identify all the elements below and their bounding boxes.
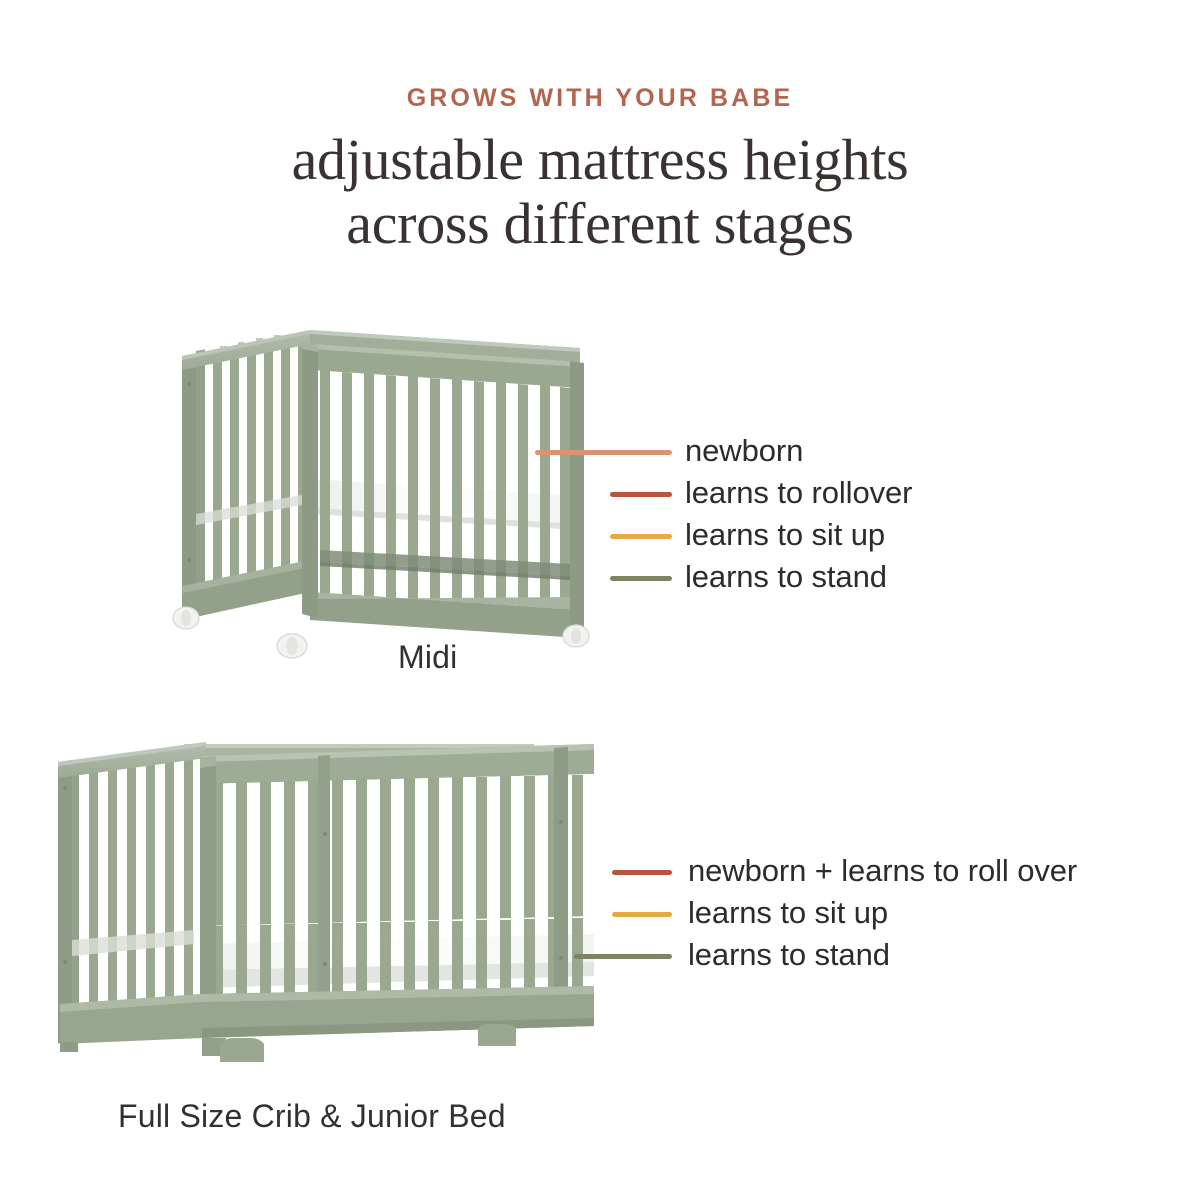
legend-label: newborn — [685, 430, 803, 472]
legend-label: learns to stand — [688, 934, 890, 976]
connector-line-rollover — [610, 492, 672, 497]
midi-caption: Midi — [398, 639, 457, 676]
legend-row: learns to sit up — [530, 514, 1190, 556]
full-size-legend: newborn + learns to roll over learns to … — [560, 850, 1200, 976]
legend-row: learns to stand — [530, 556, 1190, 598]
legend-label: newborn + learns to roll over — [688, 850, 1077, 892]
legend-label: learns to stand — [685, 556, 887, 598]
connector-line-sit-up — [610, 534, 672, 539]
caster-wheel — [563, 625, 589, 647]
legend-row: learns to sit up — [560, 892, 1200, 934]
connector-line-newborn-rollover — [612, 870, 672, 875]
legend-label: learns to sit up — [685, 514, 885, 556]
legend-row: newborn — [530, 430, 1190, 472]
headline-line-1: adjustable mattress heights — [292, 127, 909, 192]
connector-line-stand — [574, 954, 672, 959]
connector-line-newborn — [535, 450, 672, 455]
legend-label: learns to sit up — [688, 892, 888, 934]
promo-graphic: GROWS WITH YOUR BABE adjustable mattress… — [0, 0, 1200, 1200]
legend-row: newborn + learns to roll over — [560, 850, 1200, 892]
legend-row: learns to stand — [560, 934, 1200, 976]
connector-line-sit-up — [612, 912, 672, 917]
caster-wheel — [173, 607, 199, 629]
caster-wheel — [277, 634, 307, 658]
midi-legend: newborn learns to rollover learns to sit… — [530, 430, 1190, 598]
legend-label: learns to rollover — [685, 472, 912, 514]
eyebrow-text: GROWS WITH YOUR BABE — [0, 84, 1200, 113]
connector-line-stand — [610, 576, 672, 581]
full-size-caption: Full Size Crib & Junior Bed — [118, 1098, 506, 1135]
headline-line-2: across different stages — [0, 192, 1200, 256]
legend-row: learns to rollover — [530, 472, 1190, 514]
page-title: adjustable mattress heights across diffe… — [0, 128, 1200, 256]
full-size-crib-illustration — [34, 726, 614, 1066]
